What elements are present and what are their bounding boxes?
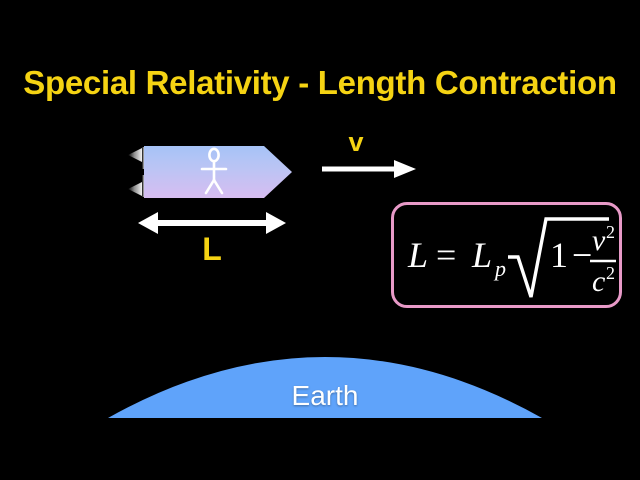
length-contraction-formula: L = L p 1 − v 2 c 2 xyxy=(394,205,619,305)
formula-denominator-exponent: 2 xyxy=(606,263,615,283)
spaceship xyxy=(126,138,306,216)
exhaust-flame-icon xyxy=(128,147,145,197)
length-measure: L xyxy=(136,210,296,272)
page-title: Special Relativity - Length Contraction xyxy=(0,64,640,102)
formula-numerator-exponent: 2 xyxy=(606,222,615,242)
formula-box: L = L p 1 − v 2 c 2 xyxy=(391,202,622,308)
velocity-label: v xyxy=(320,128,392,156)
formula-numerator: v xyxy=(592,224,606,257)
formula-minus: − xyxy=(572,235,592,275)
earth: Earth xyxy=(100,318,550,426)
formula-one: 1 xyxy=(550,235,568,275)
formula-proper-length: L xyxy=(471,235,492,275)
velocity-arrow-icon xyxy=(320,158,430,180)
formula-lhs: L xyxy=(407,235,428,275)
formula-denominator: c xyxy=(592,265,605,298)
formula-equals: = xyxy=(436,235,456,275)
spaceship-graphic xyxy=(126,138,306,216)
formula-proper-length-sub: p xyxy=(493,256,506,281)
slide-canvas: Special Relativity - Length Contraction xyxy=(0,0,640,480)
earth-label: Earth xyxy=(100,380,550,412)
length-label: L xyxy=(136,232,288,266)
velocity-indicator: v xyxy=(320,128,430,180)
